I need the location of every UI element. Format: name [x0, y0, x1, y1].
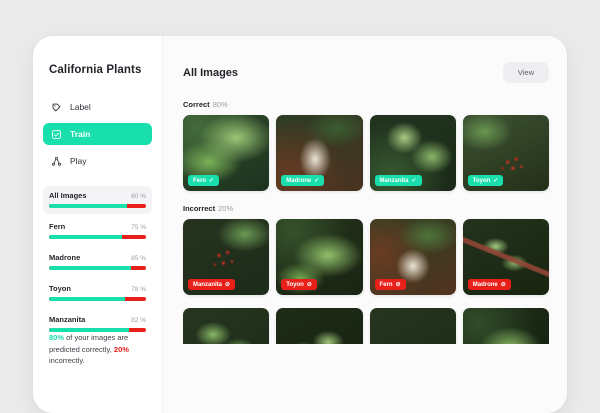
class-percent: 82 % [131, 317, 146, 324]
progress-fill [49, 235, 122, 239]
section-percent: 80% [213, 100, 228, 109]
class-name: Fern [49, 222, 65, 231]
progress-bar [49, 235, 146, 239]
image-tile[interactable]: Manzanita ⊘ [183, 219, 269, 295]
image-tile[interactable] [370, 308, 456, 344]
status-badge: Toyon ✓ [468, 175, 504, 186]
badge-label: Fern [193, 178, 206, 184]
badge-label: Fern [380, 282, 393, 288]
image-tile[interactable] [183, 308, 269, 344]
main-title: All Images [183, 67, 238, 79]
class-name: Toyon [49, 284, 71, 293]
image-tile[interactable]: Fern ⊘ [370, 219, 456, 295]
correct-percent: 80% [49, 333, 64, 342]
class-row-fern[interactable]: Fern 75 % [43, 217, 152, 245]
sidebar: California Plants Label [33, 36, 163, 413]
status-badge: Madrone ✓ [281, 175, 324, 186]
page-title: California Plants [33, 64, 162, 76]
progress-bar [49, 266, 146, 270]
progress-bar [49, 204, 146, 208]
fern-frond-photo [463, 308, 549, 344]
class-row-madrone[interactable]: Madrone 85 % [43, 248, 152, 276]
section-header-correct: Correct80% [183, 100, 549, 109]
sidebar-item-play-text: Play [70, 156, 87, 166]
image-grid-overflow [183, 308, 549, 344]
badge-label: Manzanita [193, 282, 222, 288]
image-grid-incorrect: Manzanita ⊘ Toyon ⊘ Fern ⊘ [183, 219, 549, 295]
sidebar-item-label-text: Label [70, 102, 91, 112]
image-tile[interactable]: Fern ✓ [183, 115, 269, 191]
block-icon: ⊘ [307, 282, 312, 288]
sidebar-item-label[interactable]: Label [43, 96, 152, 118]
progress-fill [49, 266, 131, 270]
badge-label: Madrone [473, 282, 498, 288]
app-card: California Plants Label [33, 36, 567, 413]
manzanita-sprig-photo [276, 308, 362, 344]
badge-label: Toyon [286, 282, 304, 288]
status-badge: Manzanita ⊘ [188, 279, 235, 290]
block-icon: ⊘ [501, 282, 506, 288]
class-progress-list: All Images 80 % Fern 75 % [33, 186, 162, 338]
class-percent: 75 % [131, 224, 146, 231]
badge-label: Manzanita [380, 178, 409, 184]
tag-icon [51, 102, 62, 113]
badge-label: Toyon [473, 178, 491, 184]
progress-fill [49, 297, 125, 301]
section-label: Correct [183, 100, 210, 109]
checkbox-icon [51, 129, 62, 140]
check-icon: ✓ [412, 178, 417, 184]
image-tile[interactable]: Toyon ⊘ [276, 219, 362, 295]
class-percent: 80 % [131, 193, 146, 200]
class-name: Madrone [49, 253, 80, 262]
image-grid-correct: Fern ✓ Madrone ✓ Manzanita ✓ [183, 115, 549, 191]
image-tile[interactable]: Madrone ⊘ [463, 219, 549, 295]
view-button[interactable]: View [503, 62, 549, 83]
status-badge: Manzanita ✓ [375, 175, 422, 186]
check-icon: ✓ [209, 178, 214, 184]
section-label: Incorrect [183, 204, 215, 213]
class-percent: 78 % [131, 286, 146, 293]
sidebar-item-play[interactable]: Play [43, 150, 152, 172]
badge-label: Madrone [286, 178, 311, 184]
main-header: All Images View [183, 62, 549, 83]
class-row-toyon[interactable]: Toyon 78 % [43, 279, 152, 307]
image-tile[interactable] [463, 308, 549, 344]
toyon-berries-photo [370, 308, 456, 344]
image-tile[interactable]: Madrone ✓ [276, 115, 362, 191]
main-panel: All Images View Correct80% Fern ✓ [163, 36, 567, 413]
sidebar-nav: Label Train [33, 96, 162, 172]
block-icon: ⊘ [225, 282, 230, 288]
sidebar-item-train-text: Train [70, 129, 90, 139]
section-header-incorrect: Incorrect20% [183, 204, 549, 213]
manzanita-leaves-photo [183, 308, 269, 344]
check-icon: ✓ [314, 178, 319, 184]
incorrect-percent: 20% [114, 345, 129, 354]
block-icon: ⊘ [396, 282, 401, 288]
status-badge: Toyon ⊘ [281, 279, 317, 290]
class-percent: 85 % [131, 255, 146, 262]
incorrect-text: incorrectly. [49, 356, 85, 365]
status-badge: Fern ⊘ [375, 279, 406, 290]
status-badge: Madrone ⊘ [468, 279, 511, 290]
progress-fill [49, 204, 127, 208]
image-tile[interactable]: Manzanita ✓ [370, 115, 456, 191]
class-name: Manzanita [49, 315, 85, 324]
progress-bar [49, 297, 146, 301]
accuracy-summary: 80% of your images are predicted correct… [49, 332, 155, 367]
sidebar-item-train[interactable]: Train [43, 123, 152, 145]
network-icon [51, 156, 62, 167]
status-badge: Fern ✓ [188, 175, 219, 186]
class-row-all-images[interactable]: All Images 80 % [43, 186, 152, 214]
image-tile[interactable] [276, 308, 362, 344]
check-icon: ✓ [493, 178, 498, 184]
app-root: California Plants Label [0, 0, 600, 413]
section-percent: 20% [218, 204, 233, 213]
image-tile[interactable]: Toyon ✓ [463, 115, 549, 191]
class-name: All Images [49, 191, 87, 200]
